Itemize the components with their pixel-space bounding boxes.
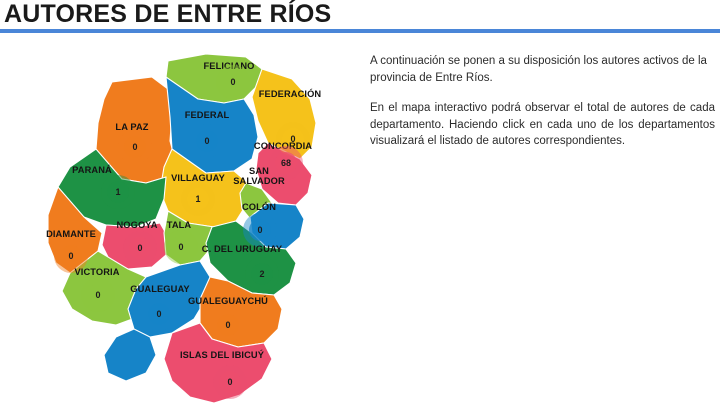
map-svg bbox=[0, 37, 360, 415]
count-value-villaguay: 1 bbox=[187, 188, 209, 210]
intro-text-column: A continuación se ponen a su disposición… bbox=[370, 53, 715, 164]
count-value-concordia: 68 bbox=[275, 152, 297, 174]
count-bubble-nogoya[interactable]: 0 bbox=[123, 231, 157, 265]
count-bubble-islas-del-ibicuy[interactable]: 0 bbox=[213, 365, 247, 399]
page-root: AUTORES DE ENTRE RÍOS bbox=[0, 0, 720, 415]
count-bubble-villaguay[interactable]: 1 bbox=[181, 182, 215, 216]
count-bubble-tala[interactable]: 0 bbox=[164, 230, 198, 264]
count-bubble-diamante[interactable]: 0 bbox=[54, 239, 88, 273]
map-column: FELICIANO0FEDERACIÓN0FEDERAL0LA PAZ0CONC… bbox=[0, 37, 360, 415]
count-value-parana: 1 bbox=[107, 181, 129, 203]
page-header: AUTORES DE ENTRE RÍOS bbox=[0, 0, 720, 36]
page-title: AUTORES DE ENTRE RÍOS bbox=[4, 0, 331, 30]
count-value-tala: 0 bbox=[170, 236, 192, 258]
count-bubble-gualeguay[interactable]: 0 bbox=[142, 297, 176, 331]
count-value-gualeguay: 0 bbox=[148, 303, 170, 325]
count-value-islas-del-ibicuy: 0 bbox=[219, 371, 241, 393]
count-bubble-colon[interactable]: 0 bbox=[243, 213, 277, 247]
count-value-federal: 0 bbox=[196, 130, 218, 152]
count-value-victoria: 0 bbox=[87, 284, 109, 306]
count-bubble-victoria[interactable]: 0 bbox=[81, 278, 115, 312]
count-bubble-gualeguaychu[interactable]: 0 bbox=[211, 308, 245, 342]
count-value-colon: 0 bbox=[249, 219, 271, 241]
content-area: FELICIANO0FEDERACIÓN0FEDERAL0LA PAZ0CONC… bbox=[0, 37, 720, 415]
count-value-nogoya: 0 bbox=[129, 237, 151, 259]
entre-rios-map[interactable]: FELICIANO0FEDERACIÓN0FEDERAL0LA PAZ0CONC… bbox=[0, 37, 360, 415]
intro-paragraph-2: En el mapa interactivo podrá observar el… bbox=[370, 100, 715, 150]
count-value-feliciano: 0 bbox=[222, 71, 244, 93]
title-divider bbox=[0, 29, 720, 33]
count-bubble-feliciano[interactable]: 0 bbox=[216, 65, 250, 99]
count-value-gualeguaychu: 0 bbox=[217, 314, 239, 336]
count-bubble-federal[interactable]: 0 bbox=[190, 124, 224, 158]
count-bubble-concordia[interactable]: 68 bbox=[269, 146, 303, 180]
count-bubble-parana[interactable]: 1 bbox=[101, 175, 135, 209]
count-value-c-del-uruguay: 2 bbox=[251, 263, 273, 285]
intro-paragraph-1: A continuación se ponen a su disposición… bbox=[370, 53, 715, 86]
count-bubble-la-paz[interactable]: 0 bbox=[118, 130, 152, 164]
count-bubble-c-del-uruguay[interactable]: 2 bbox=[245, 257, 279, 291]
count-value-diamante: 0 bbox=[60, 245, 82, 267]
count-value-la-paz: 0 bbox=[124, 136, 146, 158]
